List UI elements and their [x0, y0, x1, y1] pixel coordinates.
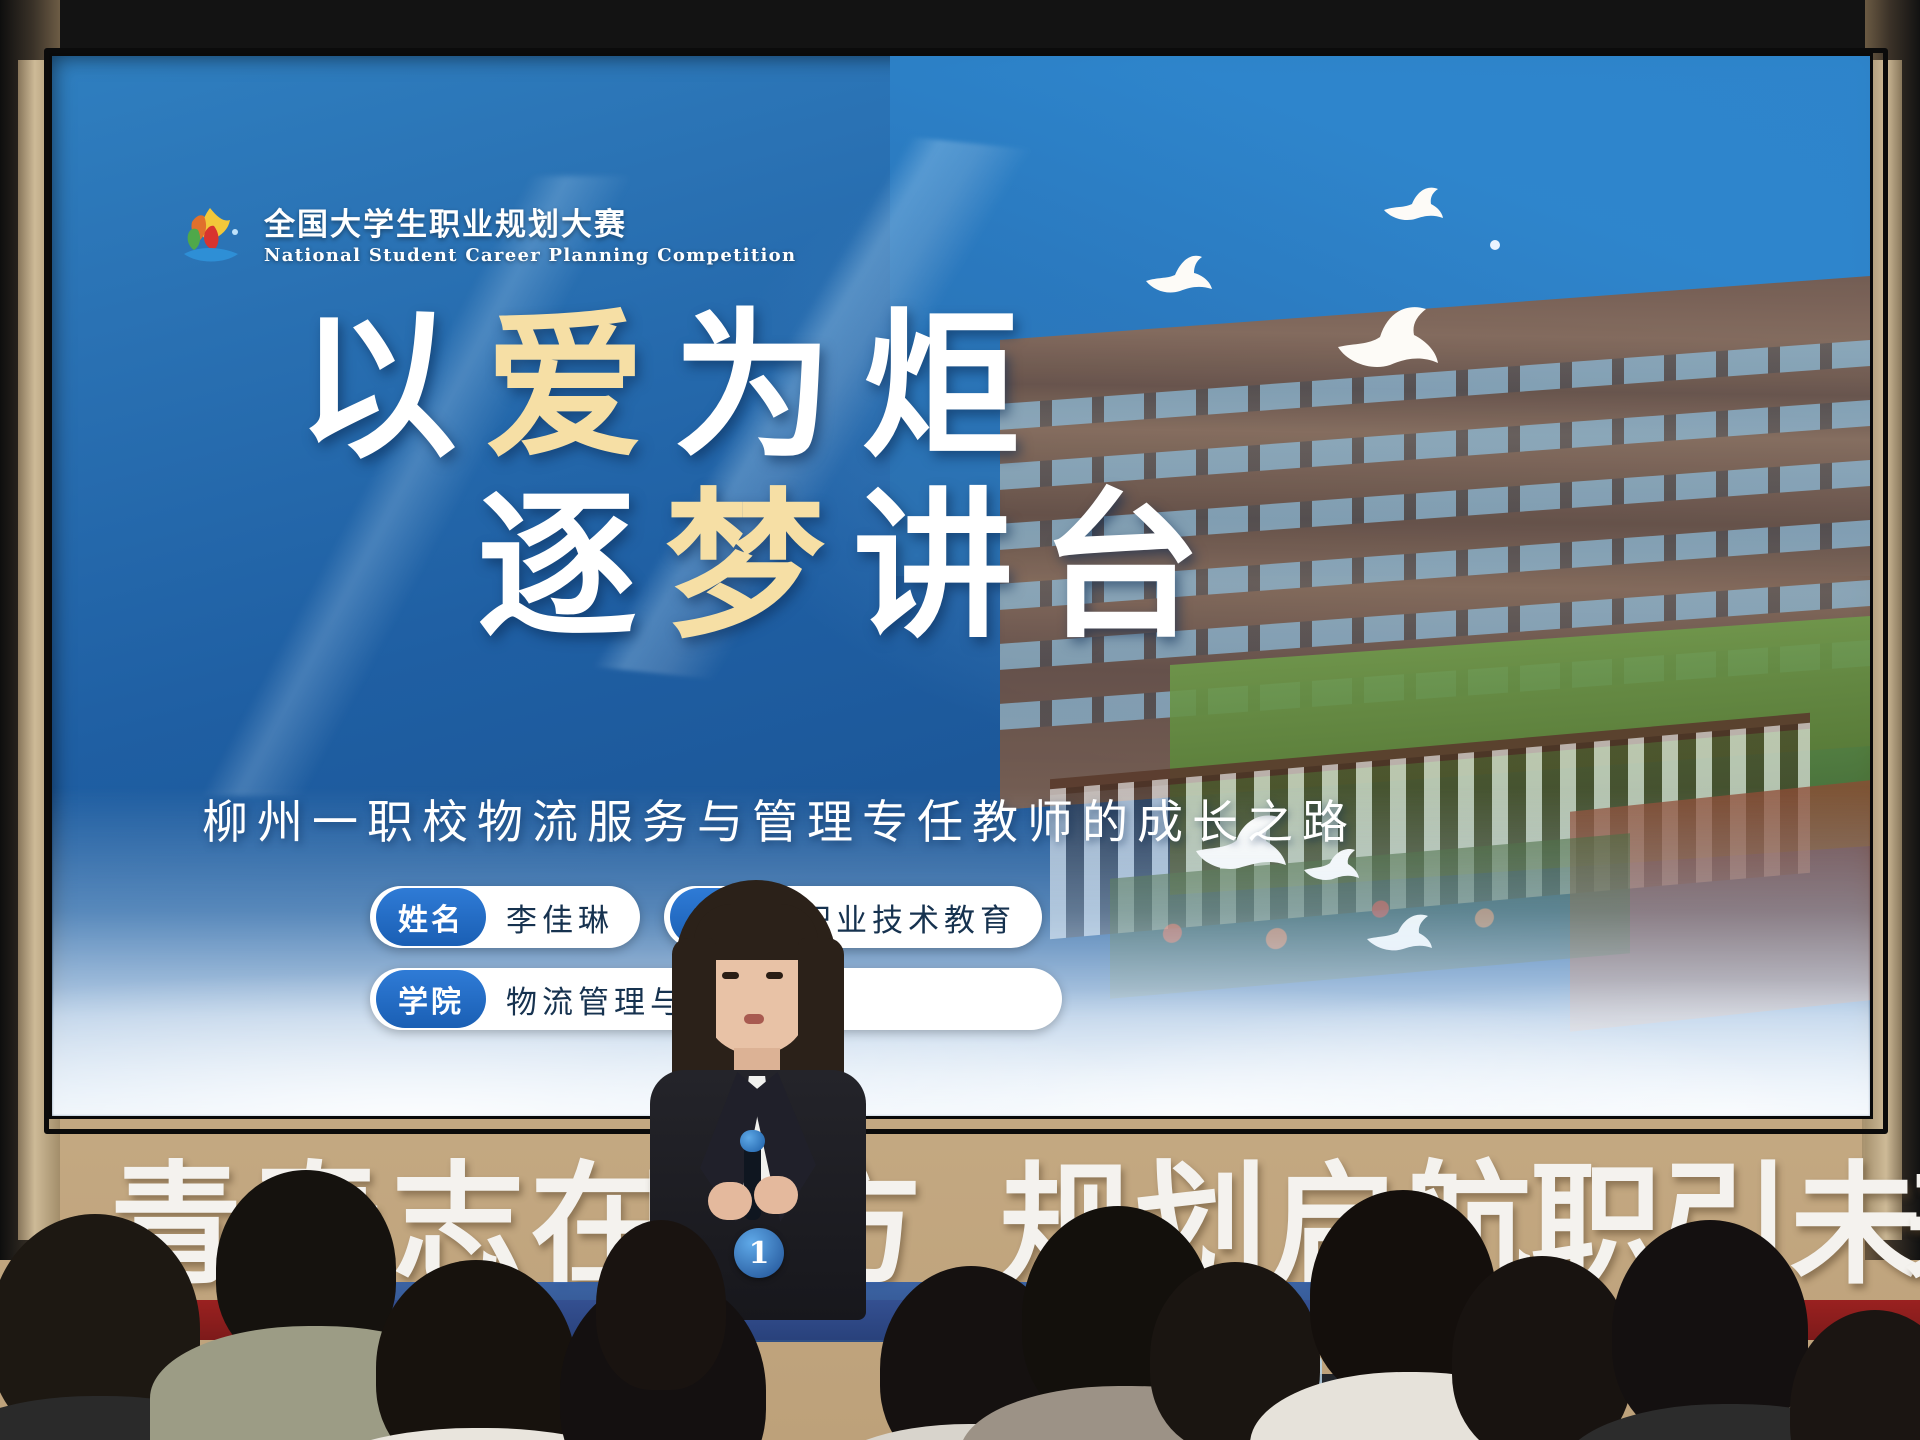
- audience-head: [596, 1220, 726, 1390]
- presenter-eye-left: [722, 972, 739, 979]
- title-char-accent: 梦: [665, 486, 853, 646]
- led-presentation-screen: 全国大学生职业规划大赛 National Student Career Plan…: [52, 56, 1870, 1116]
- dove-icon: [1488, 239, 1502, 255]
- slide-subtitle: 柳州一职校物流服务与管理专任教师的成长之路: [202, 786, 1357, 852]
- competition-logo-text: 全国大学生职业规划大赛 National Student Career Plan…: [264, 208, 796, 267]
- info-value: 李佳琳: [506, 895, 614, 940]
- title-line-1: 以 爱 为 炬: [52, 306, 1352, 466]
- info-pill-name: 姓名 李佳琳: [370, 886, 640, 948]
- presenter-eye-right: [766, 972, 783, 979]
- audience-head: [1790, 1310, 1920, 1440]
- screenshot-root: 全国大学生职业规划大赛 National Student Career Plan…: [0, 0, 1920, 1440]
- audience-head: [1452, 1256, 1632, 1440]
- title-char: 逐: [477, 486, 665, 646]
- ceiling-shadow: [0, 0, 1920, 52]
- title-char: 为: [673, 306, 861, 466]
- title-char: 台: [1041, 486, 1229, 646]
- dove-icon: [1382, 184, 1444, 228]
- audience-head: [376, 1260, 576, 1440]
- microphone-head-icon: [740, 1130, 765, 1152]
- title-char: 炬: [861, 306, 1049, 466]
- title-char: 以: [297, 306, 485, 466]
- title-line-2: 逐 梦 讲 台: [52, 486, 1352, 646]
- info-label: 学院: [376, 970, 486, 1028]
- competition-title-en: National Student Career Planning Competi…: [264, 245, 796, 266]
- info-label: 姓名: [376, 888, 486, 946]
- flame-torch-logo-icon: [180, 206, 246, 268]
- competition-logo-block: 全国大学生职业规划大赛 National Student Career Plan…: [180, 206, 796, 268]
- competition-title-cn: 全国大学生职业规划大赛: [264, 208, 796, 244]
- presenter-mouth: [744, 1014, 764, 1024]
- slide-main-title: 以 爱 为 炬 逐 梦 讲 台: [52, 306, 1352, 646]
- dove-icon: [1142, 251, 1214, 301]
- audience-area: [0, 1160, 1920, 1440]
- title-char-accent: 爱: [485, 306, 673, 466]
- title-char: 讲: [853, 486, 1041, 646]
